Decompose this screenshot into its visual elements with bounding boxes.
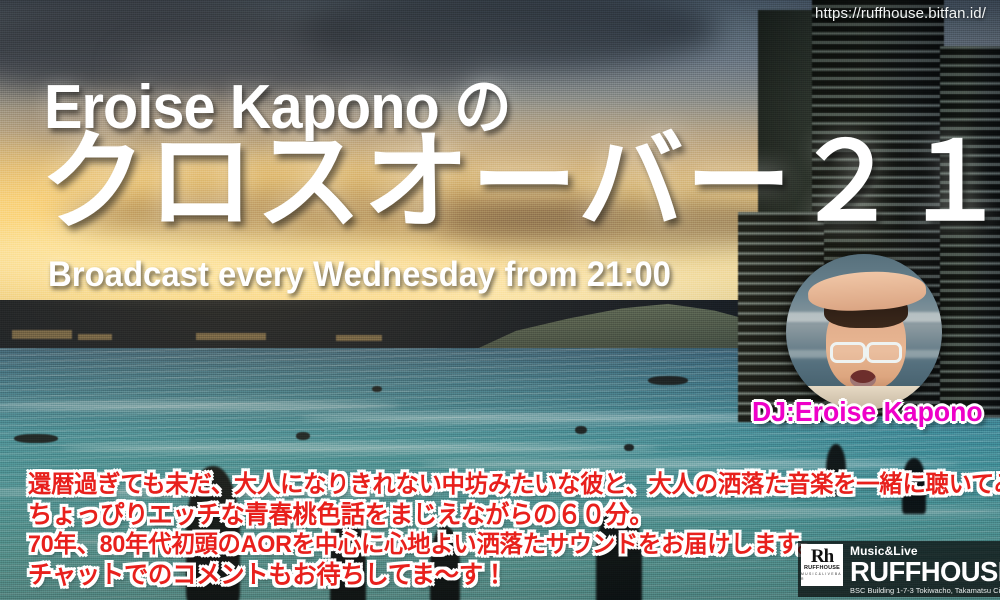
dj-glasses-right bbox=[866, 342, 902, 363]
radio-show-poster: https://ruffhouse.bitfan.id/ Eroise Kapo… bbox=[0, 0, 1000, 600]
show-title-japanese: クロスオーバー２１ bbox=[40, 125, 1000, 238]
ruffhouse-logo[interactable]: Rh RUFFHOUSE M U S I C & L I V E B A R M… bbox=[798, 541, 1000, 597]
logo-wordmark: RUFFHOUSE bbox=[850, 558, 1000, 585]
badge-name: RUFFHOUSE bbox=[804, 565, 840, 572]
description-line: ちょっぴりエッチな青春桃色話をまじえながらの６０分。 bbox=[28, 500, 959, 530]
description-line: 還暦過ぎても未だ、大人になりきれない中坊みたいな彼と、大人の洒落た音楽を一緒に聴… bbox=[28, 470, 959, 500]
dj-name-label: DJ:Eroise Kapono bbox=[752, 396, 983, 428]
logo-text-block: Music&Live RUFFHOUSE BSC Building 1-7-3 … bbox=[850, 544, 1000, 595]
logo-address: BSC Building 1-7-3 Tokiwacho, Takamatsu … bbox=[850, 587, 1000, 595]
dj-glasses-left bbox=[830, 342, 866, 363]
ruffhouse-monogram-icon: Rh RUFFHOUSE M U S I C & L I V E B A R bbox=[801, 544, 843, 586]
website-url[interactable]: https://ruffhouse.bitfan.id/ bbox=[815, 5, 986, 22]
monogram-letters: Rh bbox=[811, 548, 833, 565]
broadcast-schedule: Broadcast every Wednesday from 21:00 bbox=[48, 255, 671, 295]
dj-portrait-photo bbox=[786, 254, 942, 410]
badge-tagline: M U S I C & L I V E B A R bbox=[801, 572, 843, 582]
